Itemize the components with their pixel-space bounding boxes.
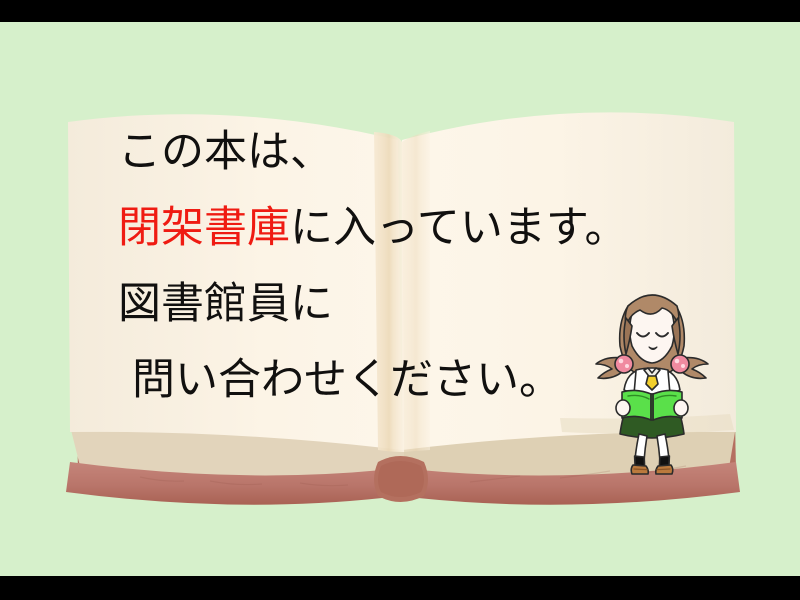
notice-line-3-text: 図書館員に — [118, 279, 333, 329]
shoe-right-strap — [657, 469, 670, 470]
letterbox-bar-top — [0, 0, 800, 22]
notice-line-2: 閉架書庫に入っています。 — [118, 190, 678, 266]
illustration-area: この本は、 閉架書庫に入っています。 図書館員に 問い合わせください。 — [0, 22, 800, 576]
notice-line-1: この本は、 — [118, 114, 678, 190]
notice-line-4-text: 問い合わせください。 — [132, 355, 562, 405]
shoe-left-strap — [634, 469, 647, 470]
book-binding-bump-shade — [378, 461, 424, 497]
notice-line-2-tail: に入っています。 — [290, 203, 628, 253]
hair-tie-left — [615, 355, 633, 373]
girl-reading-character — [592, 270, 712, 480]
letterbox-bar-bottom — [0, 576, 800, 600]
notice-highlight-term: 閉架書庫 — [118, 203, 290, 253]
hair-tie-right — [671, 355, 689, 373]
held-book-spine — [651, 394, 653, 420]
hand-right — [674, 400, 688, 416]
hand-left — [616, 400, 630, 416]
notice-line-1-text: この本は、 — [118, 127, 333, 177]
screenshot-canvas: この本は、 閉架書庫に入っています。 図書館員に 問い合わせください。 — [0, 0, 800, 600]
